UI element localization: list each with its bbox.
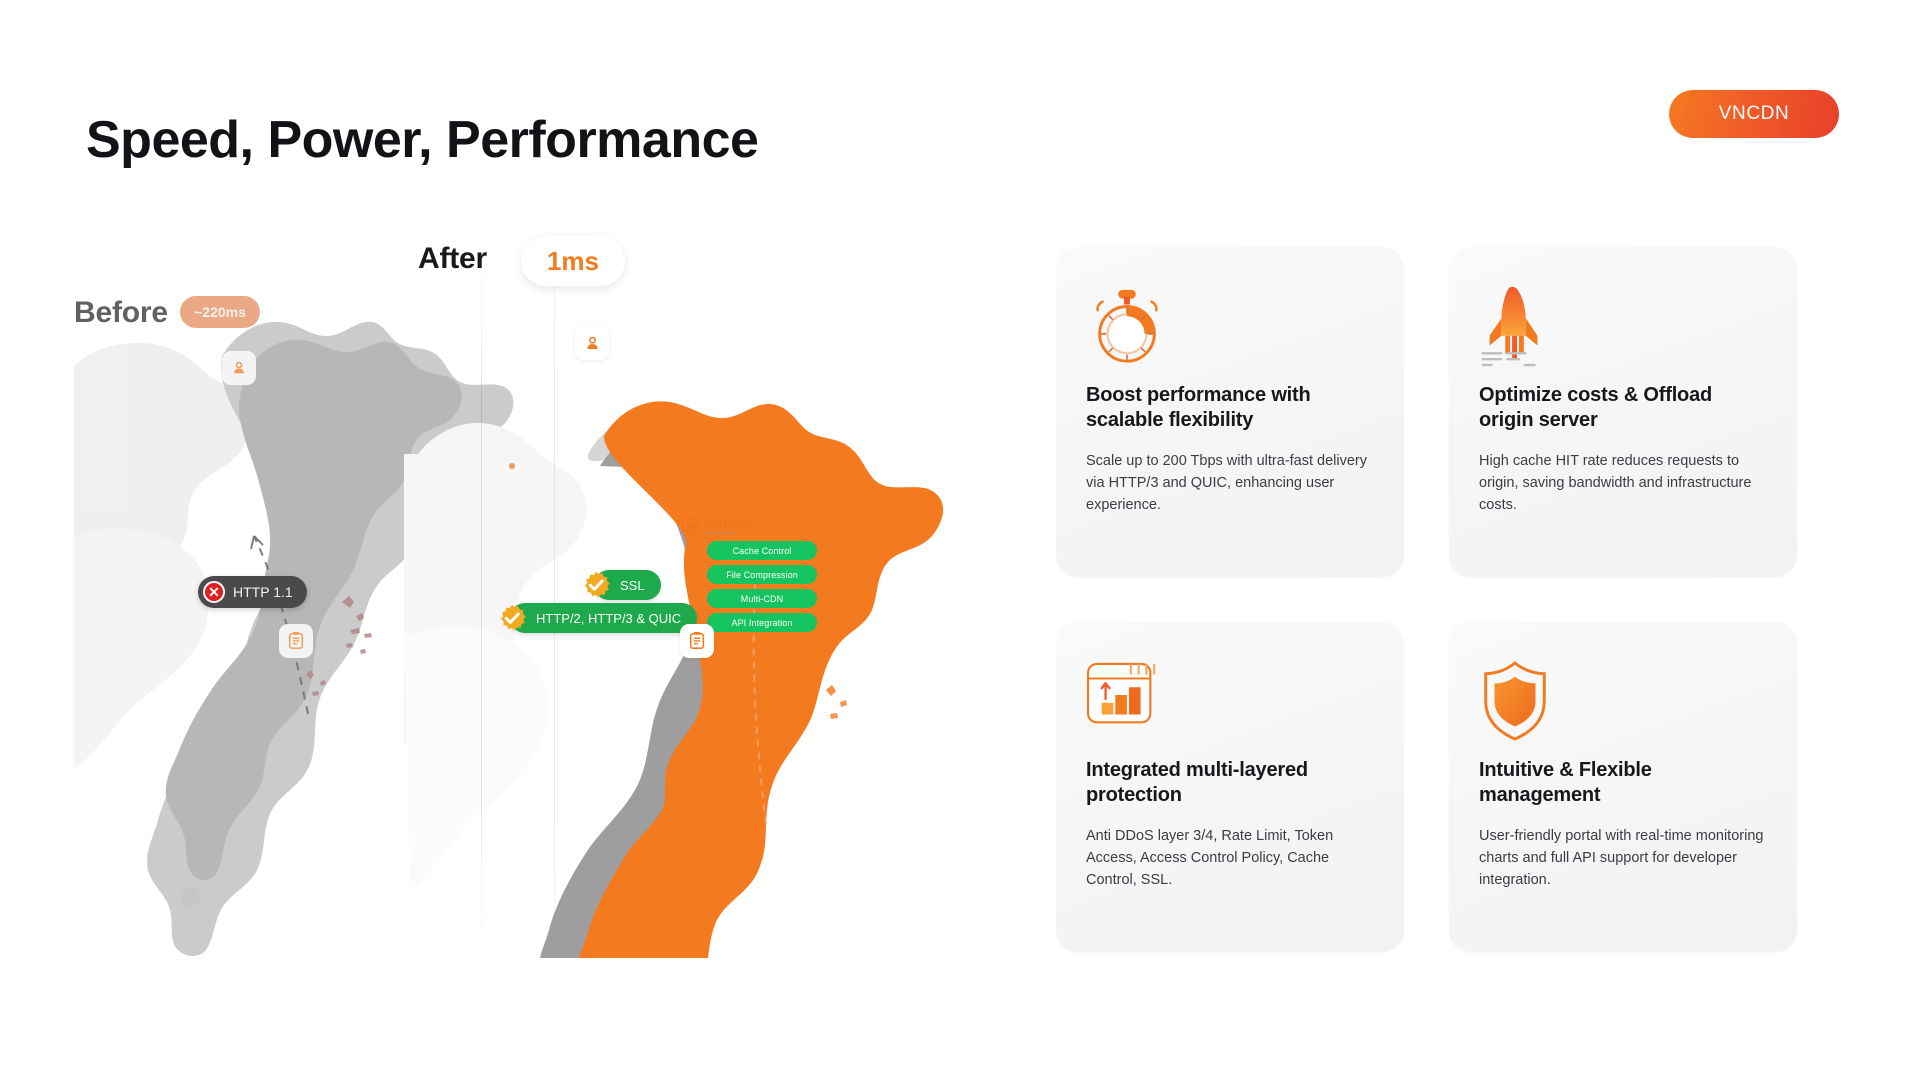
card-description: Scale up to 200 Tbps with ultra-fast del… xyxy=(1086,450,1374,516)
cdn-feature-list: Cache Control File Compression Multi-CDN… xyxy=(707,541,817,637)
card-title: Optimize costs & Offload origin server xyxy=(1479,383,1767,433)
map-logo-wordmark: VNCDN on your demand xyxy=(703,516,754,535)
card-description: High cache HIT rate reduces requests to … xyxy=(1479,450,1767,516)
feature-pill-cache-control: Cache Control xyxy=(707,541,817,560)
server-icon-tile-after xyxy=(680,624,714,658)
server-icon xyxy=(688,631,706,651)
check-burst-icon xyxy=(582,571,610,599)
server-icon xyxy=(287,631,305,651)
bar-chart-window-icon xyxy=(1086,660,1166,732)
map-logo-text: VNCDN xyxy=(703,516,754,530)
card-title: Integrated multi-layered protection xyxy=(1086,758,1374,808)
card-icon-wrap xyxy=(1479,285,1767,367)
feature-pill-file-compression: File Compression xyxy=(707,565,817,584)
map-divider-right xyxy=(554,236,555,958)
protocol-badge-before: ✕ HTTP 1.1 xyxy=(198,576,307,608)
card-icon-wrap xyxy=(1086,660,1374,742)
feature-pill-multi-cdn: Multi-CDN xyxy=(707,589,817,608)
feature-card[interactable]: Boost performance with scalable flexibil… xyxy=(1056,247,1404,577)
card-description: User-friendly portal with real-time moni… xyxy=(1479,825,1767,891)
check-pill-http23: HTTP/2, HTTP/3 & QUIC xyxy=(510,603,697,633)
map-label-before: Before xyxy=(74,296,168,330)
latency-after-value: 1ms xyxy=(547,246,599,277)
map-comparison: Before ~220ms ✕ HTTP 1.1 xyxy=(74,236,1004,958)
server-icon-tile-before xyxy=(279,624,313,658)
feature-pill-label: Multi-CDN xyxy=(741,594,783,604)
user-icon xyxy=(583,334,602,353)
card-icon-wrap xyxy=(1479,660,1767,742)
brand-badge-label: VNCDN xyxy=(1719,103,1790,125)
page-title: Speed, Power, Performance xyxy=(86,110,758,170)
map-divider-left xyxy=(481,236,482,958)
card-description: Anti DDoS layer 3/4, Rate Limit, Token A… xyxy=(1086,825,1374,891)
map-label-after: After xyxy=(418,242,487,276)
feature-pill-label: API Integration xyxy=(731,618,792,628)
feature-pill-label: Cache Control xyxy=(733,546,792,556)
user-icon xyxy=(230,359,248,377)
map-logo-tagline: on your demand xyxy=(703,531,754,535)
card-icon-wrap xyxy=(1086,285,1374,367)
check-pill-ssl: SSL xyxy=(594,570,661,600)
latency-before-value: ~220ms xyxy=(194,304,246,320)
vncdn-hex-icon xyxy=(682,516,699,535)
feature-card[interactable]: Optimize costs & Offload origin server H… xyxy=(1449,247,1797,577)
check-pill-ssl-label: SSL xyxy=(620,578,645,593)
shield-icon xyxy=(1479,660,1551,742)
brand-badge-vncdn[interactable]: VNCDN xyxy=(1669,90,1839,138)
check-burst-icon xyxy=(498,604,526,632)
card-title: Boost performance with scalable flexibil… xyxy=(1086,383,1374,433)
user-icon-tile-before xyxy=(222,351,256,385)
card-title: Intuitive & Flexible management xyxy=(1479,758,1767,808)
protocol-badge-before-label: HTTP 1.1 xyxy=(233,584,293,600)
stopwatch-icon xyxy=(1086,285,1168,367)
user-icon-tile-after xyxy=(575,326,609,360)
feature-card-grid: Boost performance with scalable flexibil… xyxy=(1056,247,1797,952)
feature-card[interactable]: Intuitive & Flexible management User-fri… xyxy=(1449,622,1797,952)
x-circle-icon: ✕ xyxy=(203,581,225,603)
check-pill-http23-label: HTTP/2, HTTP/3 & QUIC xyxy=(536,611,681,626)
map-logo-vncdn: VNCDN on your demand xyxy=(682,516,754,535)
rocket-icon xyxy=(1479,285,1553,367)
slide-root: Speed, Power, Performance VNCDN xyxy=(0,0,1920,1080)
latency-badge-after: 1ms xyxy=(521,236,625,286)
latency-badge-before: ~220ms xyxy=(180,296,260,328)
feature-pill-api-integration: API Integration xyxy=(707,613,817,632)
feature-card[interactable]: Integrated multi-layered protection Anti… xyxy=(1056,622,1404,952)
feature-pill-label: File Compression xyxy=(726,570,798,580)
